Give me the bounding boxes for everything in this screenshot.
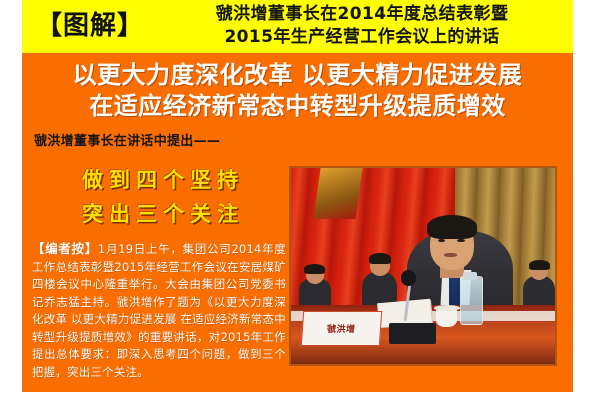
water-bottle	[460, 276, 483, 325]
speaker-hair	[427, 215, 477, 239]
editor-note-label: 【编者按】	[32, 241, 98, 256]
page-title-line2: 2015年生产经营工作会议上的讲话	[162, 26, 562, 49]
body-paragraph: 【编者按】1月19日上午，集团公司2014年度工作总结表彰暨2015年经营工作会…	[32, 240, 286, 381]
slogan-1: 做到四个坚持	[48, 163, 278, 197]
page-title: 虢洪增董事长在2014年度总结表彰暨 2015年生产经营工作会议上的讲话	[162, 3, 562, 49]
photo-scene: 虢洪增	[291, 168, 555, 364]
main-headline-line1: 以更大力度深化改革 以更大精力促进发展	[22, 60, 573, 91]
tag-label: 【图解】	[36, 11, 144, 41]
curtain-fold	[314, 168, 363, 219]
header-band: 【图解】 虢洪增董事长在2014年度总结表彰暨 2015年生产经营工作会议上的讲…	[22, 0, 573, 53]
page-title-line1: 虢洪增董事长在2014年度总结表彰暨	[162, 3, 562, 26]
body-text: 1月19日上午，集团公司2014年度工作总结表彰暨2015年经营工作会议在安居煤…	[32, 242, 286, 379]
speaker-photo: 虢洪增	[289, 166, 557, 366]
microphone-head	[401, 270, 417, 286]
slogan-group: 做到四个坚持 突出三个关注	[48, 163, 278, 231]
speaker-mouth	[444, 253, 457, 257]
background-attendee-hair	[369, 253, 391, 264]
background-attendee-hair	[304, 264, 325, 274]
water-bottle-cap	[463, 272, 478, 280]
background-attendee	[523, 276, 555, 309]
kicker-text: 虢洪增董事长在讲话中提出——	[34, 130, 220, 149]
slogan-2: 突出三个关注	[48, 197, 278, 231]
speaker-nameplate: 虢洪增	[300, 311, 381, 346]
speaker-nameplate-text: 虢洪增	[326, 322, 355, 335]
main-headline-line2: 在适应经济新常态中转型升级提质增效	[22, 91, 573, 122]
background-attendee-hair	[529, 260, 550, 270]
microphone-base	[389, 323, 437, 345]
tea-cup	[436, 309, 457, 327]
poster-container: 【图解】 虢洪增董事长在2014年度总结表彰暨 2015年生产经营工作会议上的讲…	[22, 0, 573, 392]
main-headline: 以更大力度深化改革 以更大精力促进发展 在适应经济新常态中转型升级提质增效	[22, 60, 573, 122]
